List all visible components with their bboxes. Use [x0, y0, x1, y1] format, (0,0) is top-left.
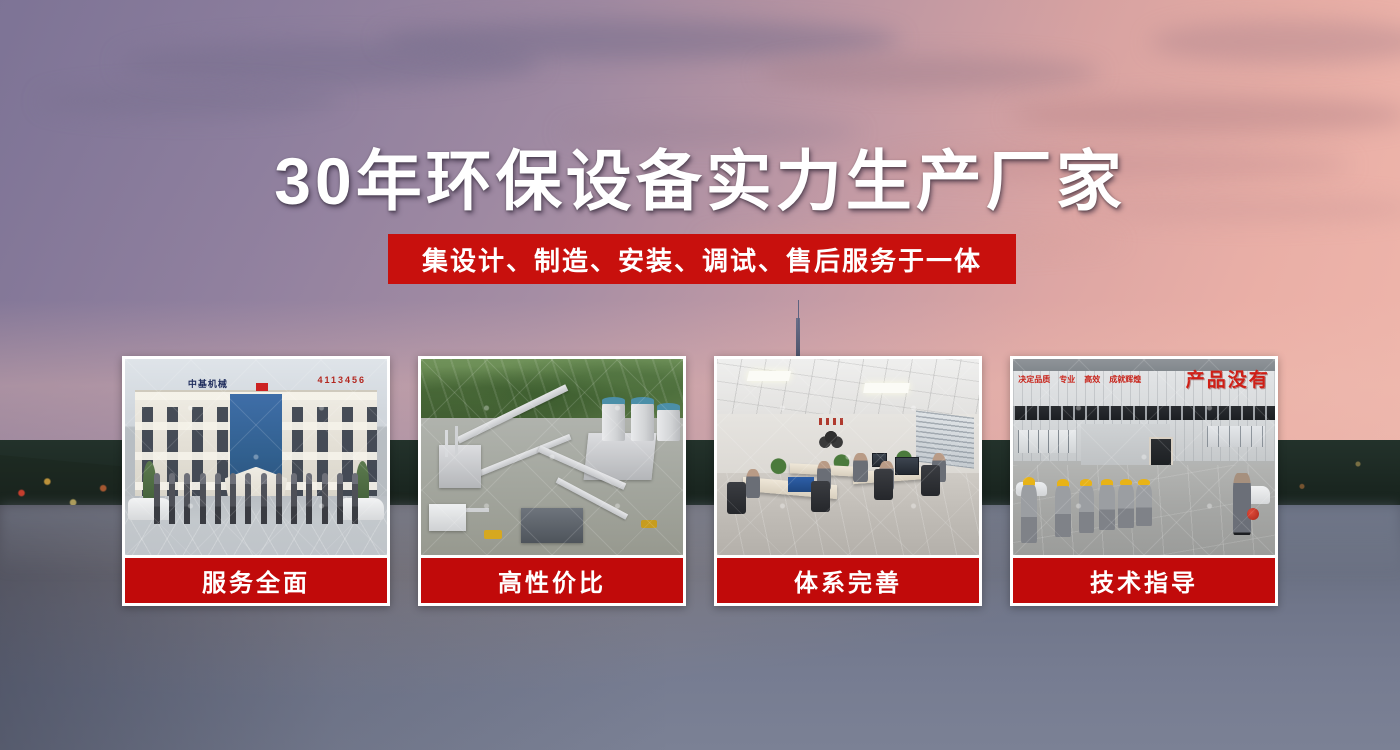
- worker-figure: [1055, 479, 1071, 538]
- worker-figure: [1079, 479, 1095, 534]
- hero-headline: 30年环保设备实力生产厂家: [0, 128, 1400, 224]
- card-photo-factory-yard: 产品没有 决定品质 专业 高效 成就辉煌: [1013, 359, 1275, 555]
- worker-figure: [1136, 479, 1152, 526]
- slogan-part: 成就辉煌: [1109, 375, 1141, 386]
- card-caption-text: 高性价比: [498, 563, 606, 598]
- worker-figure: [1118, 479, 1134, 528]
- feature-card-row: 中基机械 4113456 服务全面: [122, 356, 1278, 606]
- factory-slogan-text: 决定品质 专业 高效 成就辉煌: [1018, 375, 1144, 386]
- card-caption-system: 体系完善: [717, 555, 979, 603]
- card-caption-text: 技术指导: [1090, 563, 1198, 598]
- factory-sign-text: 产品没有: [1186, 365, 1270, 392]
- slogan-part: 高效: [1084, 375, 1100, 386]
- slogan-part: 专业: [1059, 375, 1075, 386]
- laptop-icon: [788, 477, 814, 493]
- red-helmet-icon: [1247, 508, 1259, 520]
- card-caption-guidance: 技术指导: [1013, 555, 1275, 603]
- worker-figure: [1021, 477, 1037, 544]
- feature-card-value[interactable]: 高性价比: [418, 356, 686, 606]
- wall-decal: [811, 418, 850, 449]
- building-phone-number: 4113456: [318, 375, 367, 385]
- worker-figure: [1099, 479, 1115, 530]
- feature-card-guidance[interactable]: 产品没有 决定品质 专业 高效 成就辉煌 技术指导: [1010, 356, 1278, 606]
- card-caption-text: 体系完善: [794, 563, 902, 598]
- staff-lineup: [154, 473, 358, 524]
- hero-subtitle-text: 集设计、制造、安装、调试、售后服务于一体: [422, 241, 982, 278]
- card-photo-office-building: 中基机械 4113456: [125, 359, 387, 555]
- card-caption-service: 服务全面: [125, 555, 387, 603]
- card-photo-plant-aerial: [421, 359, 683, 555]
- hero-subtitle-banner: 集设计、制造、安装、调试、售后服务于一体: [388, 234, 1016, 284]
- card-caption-text: 服务全面: [202, 563, 310, 598]
- slogan-part: 决定品质: [1018, 375, 1050, 386]
- building-company-sign: 中基机械: [188, 375, 267, 393]
- supervisor-figure: [1233, 473, 1251, 536]
- feature-card-system[interactable]: 体系完善: [714, 356, 982, 606]
- card-photo-office-interior: [717, 359, 979, 555]
- feature-card-service[interactable]: 中基机械 4113456 服务全面: [122, 356, 390, 606]
- card-caption-value: 高性价比: [421, 555, 683, 603]
